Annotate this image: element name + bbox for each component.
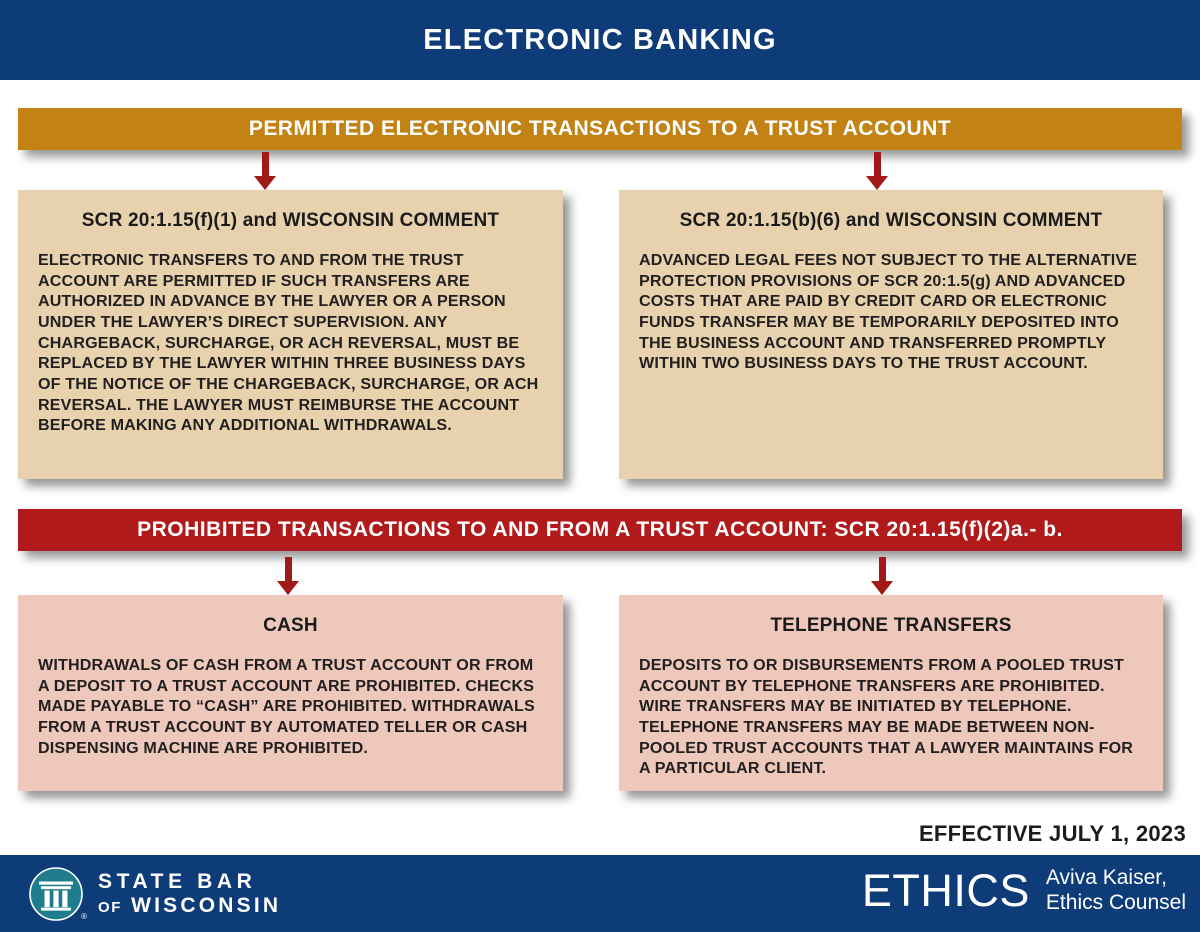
state-bar-wordmark-of: OF <box>98 899 122 916</box>
down-arrow-permitted-left <box>254 152 276 190</box>
registered-mark: ® <box>81 912 87 921</box>
infographic-page: ELECTRONIC BANKING PERMITTED ELECTRONIC … <box>0 0 1200 932</box>
state-bar-pillar-icon: ® <box>28 866 84 922</box>
state-bar-wordmark: STATE BAR OF WISCONSIN <box>98 870 281 917</box>
page-footer: ® STATE BAR OF WISCONSIN ETHICS Aviva Ka… <box>0 855 1200 932</box>
permitted-section-banner: PERMITTED ELECTRONIC TRANSACTIONS TO A T… <box>18 108 1182 150</box>
prohibited-banner-label: PROHIBITED TRANSACTIONS TO AND FROM A TR… <box>137 518 1063 542</box>
ethics-label: ETHICS <box>862 865 1030 917</box>
prohibited-box-cash: CASH WITHDRAWALS OF CASH FROM A TRUST AC… <box>18 595 563 791</box>
ethics-credit: ETHICS Aviva Kaiser, Ethics Counsel <box>862 865 1186 917</box>
prohibited-box-cash-heading: CASH <box>38 615 543 637</box>
permitted-banner-label: PERMITTED ELECTRONIC TRANSACTIONS TO A T… <box>249 117 951 141</box>
state-bar-wordmark-wisconsin: WISCONSIN <box>131 894 281 917</box>
prohibited-section-banner: PROHIBITED TRANSACTIONS TO AND FROM A TR… <box>18 509 1182 551</box>
down-arrow-permitted-right <box>866 152 888 190</box>
permitted-box-right-heading: SCR 20:1.15(b)(6) and WISCONSIN COMMENT <box>639 210 1143 232</box>
page-header: ELECTRONIC BANKING <box>0 0 1200 80</box>
prohibited-box-telephone-body: DEPOSITS TO OR DISBURSEMENTS FROM A POOL… <box>639 655 1143 779</box>
state-bar-wordmark-line2: OF WISCONSIN <box>98 894 281 918</box>
prohibited-box-cash-body: WITHDRAWALS OF CASH FROM A TRUST ACCOUNT… <box>38 655 543 758</box>
permitted-box-left: SCR 20:1.15(f)(1) and WISCONSIN COMMENT … <box>18 190 563 479</box>
state-bar-wordmark-line1: STATE BAR <box>98 870 281 894</box>
down-arrow-prohibited-right <box>871 557 893 595</box>
ethics-counsel-title: Ethics Counsel <box>1046 891 1186 914</box>
down-arrow-prohibited-left <box>277 557 299 595</box>
prohibited-box-telephone-transfers: TELEPHONE TRANSFERS DEPOSITS TO OR DISBU… <box>619 595 1163 791</box>
ethics-counsel-byline: Aviva Kaiser, Ethics Counsel <box>1046 866 1186 916</box>
permitted-box-left-body: ELECTRONIC TRANSFERS TO AND FROM THE TRU… <box>38 250 543 436</box>
ethics-counsel-name: Aviva Kaiser, <box>1046 866 1167 889</box>
page-title: ELECTRONIC BANKING <box>423 24 777 57</box>
prohibited-box-telephone-heading: TELEPHONE TRANSFERS <box>639 615 1143 637</box>
state-bar-logo: ® STATE BAR OF WISCONSIN <box>28 866 281 922</box>
permitted-box-left-heading: SCR 20:1.15(f)(1) and WISCONSIN COMMENT <box>38 210 543 232</box>
permitted-box-right-body: ADVANCED LEGAL FEES NOT SUBJECT TO THE A… <box>639 250 1143 374</box>
effective-date: EFFECTIVE JULY 1, 2023 <box>919 821 1186 847</box>
permitted-box-right: SCR 20:1.15(b)(6) and WISCONSIN COMMENT … <box>619 190 1163 479</box>
